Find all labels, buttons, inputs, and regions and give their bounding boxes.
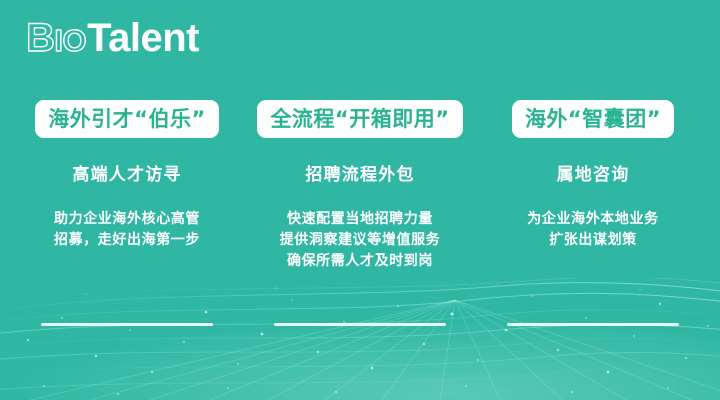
logo-bio-outline: BIO bbox=[26, 18, 86, 58]
brand-logo: BIO Talent bbox=[26, 18, 199, 62]
card-body-line: 招募，走好出海第一步 bbox=[54, 230, 200, 251]
card-pill-label-1: 海外引才“伯乐” bbox=[48, 109, 206, 130]
card-pill-label-3: 海外“智囊团” bbox=[525, 109, 661, 130]
logo-letter-b: B bbox=[26, 16, 54, 60]
logo-talent-solid: Talent bbox=[87, 18, 199, 58]
card-body-line: 确保所需人才及时到岗 bbox=[280, 251, 441, 272]
feature-cards-row: 海外引才“伯乐” 高端人才访寻 助力企业海外核心高管 招募，走好出海第一步 全流… bbox=[0, 100, 720, 272]
card-subtitle-3: 属地咨询 bbox=[557, 160, 630, 185]
card-pill-badge-1: 海外引才“伯乐” bbox=[35, 100, 219, 138]
logo-letter-o: O bbox=[63, 23, 87, 58]
card-body-line: 为企业海外本地业务 bbox=[527, 209, 658, 230]
rule-slot-2 bbox=[240, 323, 480, 326]
card-subtitle-2: 招聘流程外包 bbox=[305, 160, 414, 185]
poster-canvas: BIO Talent 海外引才“伯乐” 高端人才访寻 助力企业海外核心高管 招募… bbox=[0, 0, 720, 400]
card-underline-rules bbox=[0, 323, 720, 326]
card-divider-rule-3 bbox=[507, 323, 679, 326]
rule-slot-1 bbox=[22, 323, 232, 326]
card-divider-rule-1 bbox=[41, 323, 213, 326]
card-pill-badge-3: 海外“智囊团” bbox=[512, 100, 674, 138]
card-body-line: 扩张出谋划策 bbox=[527, 230, 658, 251]
card-body-line: 快速配置当地招聘力量 bbox=[280, 209, 441, 230]
card-body-line: 提供洞察建议等增值服务 bbox=[280, 230, 441, 251]
feature-card-overseas-recruiting: 海外引才“伯乐” 高端人才访寻 助力企业海外核心高管 招募，走好出海第一步 bbox=[22, 100, 232, 272]
card-body-line: 助力企业海外核心高管 bbox=[54, 209, 200, 230]
rule-slot-3 bbox=[488, 323, 698, 326]
card-body-3: 为企业海外本地业务 扩张出谋划策 bbox=[527, 209, 658, 251]
card-divider-rule-2 bbox=[274, 323, 446, 326]
feature-card-process-outsourcing: 全流程“开箱即用” 招聘流程外包 快速配置当地招聘力量 提供洞察建议等增值服务 … bbox=[240, 100, 480, 272]
card-pill-label-2: 全流程“开箱即用” bbox=[270, 109, 449, 130]
logo-letter-i: I bbox=[54, 23, 62, 58]
feature-card-local-consulting: 海外“智囊团” 属地咨询 为企业海外本地业务 扩张出谋划策 bbox=[488, 100, 698, 272]
card-pill-badge-2: 全流程“开箱即用” bbox=[257, 100, 462, 138]
card-subtitle-1: 高端人才访寻 bbox=[72, 160, 181, 185]
card-body-1: 助力企业海外核心高管 招募，走好出海第一步 bbox=[54, 209, 200, 251]
card-body-2: 快速配置当地招聘力量 提供洞察建议等增值服务 确保所需人才及时到岗 bbox=[280, 209, 441, 272]
